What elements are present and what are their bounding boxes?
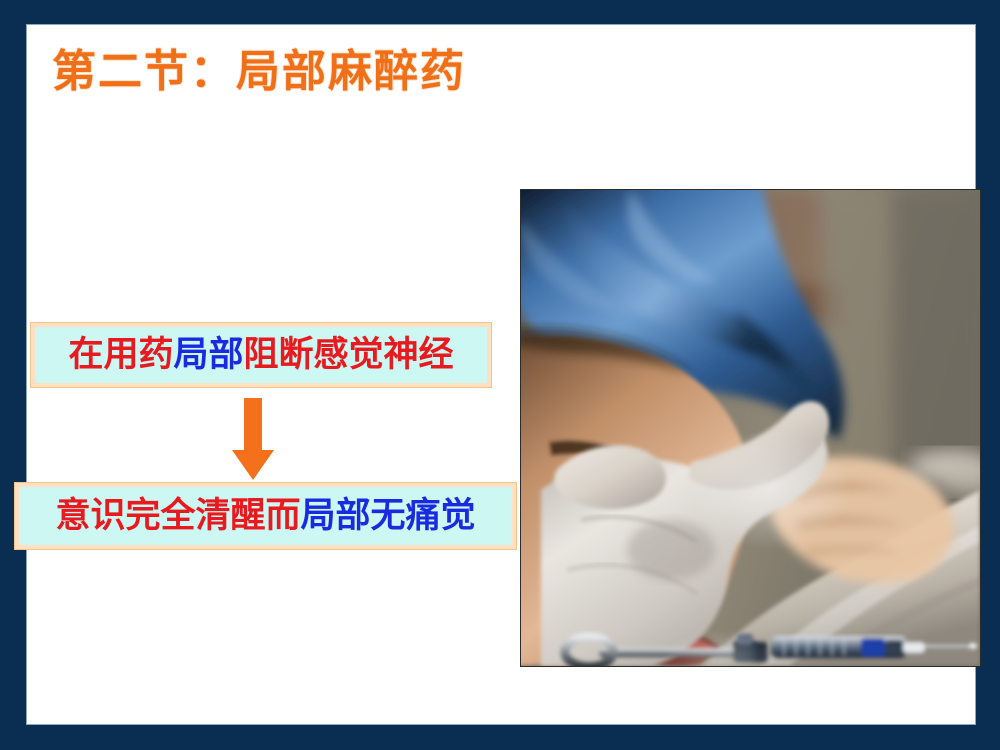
- photo-artwork: [521, 190, 980, 666]
- result-textbox: 意识完全清醒而局部无痛觉: [14, 482, 517, 550]
- premise-segment-1: 在用药: [68, 335, 173, 375]
- premise-segment-2: 局部: [173, 335, 243, 375]
- dental-local-anesthesia-photo: [521, 190, 980, 666]
- result-segment-2: 局部无痛觉: [301, 496, 476, 536]
- premise-text-line: 在用药局部阻断感觉神经: [68, 338, 453, 373]
- arrow-down-glyph: [232, 398, 274, 480]
- result-segment-1: 意识完全清醒而: [55, 496, 300, 536]
- premise-segment-3: 阻断感觉神经: [244, 335, 454, 375]
- slide-root: 第二节：局部麻醉药: [0, 0, 1000, 750]
- premise-textbox: 在用药局部阻断感觉神经: [30, 322, 492, 388]
- result-textbox-inner: 意识完全清醒而局部无痛觉: [19, 487, 512, 545]
- premise-textbox-inner: 在用药局部阻断感觉神经: [35, 327, 487, 383]
- result-text-line: 意识完全清醒而局部无痛觉: [55, 499, 475, 534]
- page-title: 第二节：局部麻醉药: [52, 48, 466, 96]
- arrow-down-icon: [232, 398, 274, 480]
